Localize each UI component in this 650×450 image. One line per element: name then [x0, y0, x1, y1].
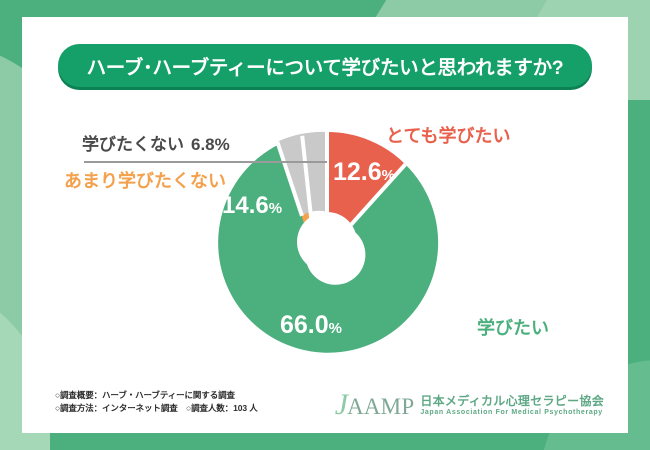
donut-hole — [297, 212, 357, 272]
category-label-not-much: あまり学びたくない — [64, 172, 226, 190]
leader-line — [84, 161, 327, 163]
category-label-not-want-value: 6.8% — [191, 135, 230, 154]
percent-symbol: % — [329, 320, 342, 337]
slice-value-very-much: 12.6% — [333, 160, 395, 185]
slice-value-want-number: 66.0 — [280, 311, 329, 339]
logo-name-en: Japan Association For Medical Psychother… — [420, 408, 604, 417]
percent-symbol: % — [269, 200, 282, 217]
survey-footnotes: ○調査概要：ハーブ・ハーブティーに関する調査 ○調査方法：インターネット調査 ○… — [55, 389, 258, 415]
category-label-want: 学びたい — [477, 319, 549, 337]
category-label-very-much: とても学びたい — [386, 127, 511, 145]
footnote-line-2: ○調査方法：インターネット調査 ○調査人数：103 人 — [55, 402, 258, 415]
footnote-line-1: ○調査概要：ハーブ・ハーブティーに関する調査 — [55, 389, 258, 402]
content-card: ハーブ･ハーブティーについて学びたいと思われますか? — [22, 17, 628, 433]
logo-initial: J — [335, 391, 348, 418]
logo-name-ja: 日本メディカル心理セラピー協会 — [420, 395, 604, 408]
donut-chart: 12.6% 66.0% 14.6% とても学びたい 学びたい あまり学びたくない… — [22, 17, 628, 433]
percent-symbol: % — [382, 167, 395, 184]
logo-wordmark: AAMP — [347, 397, 414, 418]
infographic-poster: ハーブ･ハーブティーについて学びたいと思われますか? — [0, 0, 650, 450]
slice-value-very-much-number: 12.6 — [333, 158, 382, 186]
slice-value-not-much: 14.6% — [222, 194, 282, 218]
category-label-not-want: 学びたくない6.8% — [82, 136, 230, 153]
category-label-not-want-text: 学びたくない — [82, 135, 184, 154]
organization-logo: J AAMP 日本メディカル心理セラピー協会 Japan Association… — [335, 391, 604, 418]
slice-value-not-much-number: 14.6 — [222, 192, 269, 219]
logo-mark: J AAMP — [335, 391, 415, 418]
slice-value-want: 66.0% — [280, 313, 342, 338]
logo-text: 日本メディカル心理セラピー協会 Japan Association For Me… — [420, 395, 604, 418]
